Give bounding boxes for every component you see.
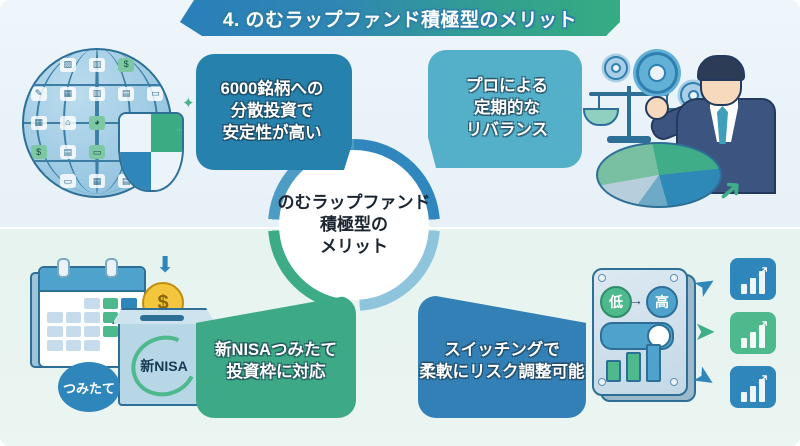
screw-icon	[598, 274, 606, 282]
balance-scale-string-icon	[598, 93, 600, 109]
panel-bar-icon	[626, 352, 641, 382]
bar-chart-icon: ▦	[89, 174, 105, 188]
money-bill-icon: ▭	[89, 145, 105, 159]
certificate-icon: ▤	[60, 145, 76, 159]
bar-chart-icon: ▥	[89, 87, 105, 101]
bar-chart-icon: ▦	[31, 116, 47, 130]
dollar-coin-icon: $	[118, 58, 134, 72]
sparkle-icon: ✦	[174, 126, 183, 137]
folder-icon: ▭	[147, 87, 163, 101]
building-icon: ▥	[31, 174, 47, 188]
pie-chart-icon: ◕	[89, 116, 105, 130]
advisor-hair-icon	[697, 55, 745, 81]
right-arrow-icon: →	[629, 292, 643, 308]
advisor-hand-icon	[645, 96, 669, 120]
screw-icon	[670, 274, 678, 282]
pie-chart-3d-icon	[596, 142, 722, 220]
callout-line: 定期的な	[474, 98, 540, 120]
screw-icon	[670, 378, 678, 386]
calendar-ring-icon	[105, 258, 118, 278]
dollar-coin-icon: $	[31, 145, 47, 159]
screw-icon	[598, 378, 606, 386]
chart-tile-icon: ↗	[730, 258, 776, 300]
center-line-2: 積極型の	[320, 214, 388, 236]
up-arrow-icon: ↗	[756, 372, 769, 387]
tsumitate-badge: つみたて	[58, 362, 120, 412]
callout-line: プロによる	[466, 76, 548, 98]
panel-bar-icon	[646, 344, 661, 382]
panel-bar-icon	[606, 360, 621, 382]
risk-level-high-badge: 高	[646, 286, 678, 318]
callout-line: 柔軟にリスク調整可能	[420, 362, 585, 384]
house-icon: ⌂	[60, 116, 76, 130]
balance-scale-post-icon	[627, 86, 631, 138]
gear-icon	[604, 56, 628, 80]
branch-arrow-icon: ➤	[694, 318, 716, 344]
document-icon: ▤	[147, 58, 163, 72]
calendar-ring-icon	[57, 258, 70, 278]
nisa-cycle-icon: 新NISA	[126, 338, 202, 394]
bank-icon: ▥	[89, 58, 105, 72]
savings-box-slot-icon	[140, 315, 184, 321]
callout-line: 分散投資で	[231, 101, 314, 123]
center-line-1: のむラップファンド	[278, 192, 431, 214]
shield-icon	[118, 112, 184, 192]
chart-up-icon: ▨	[60, 58, 76, 72]
risk-level-low-badge: 低	[600, 286, 632, 318]
page-title: 4. のむラップファンド積極型のメリット	[223, 5, 577, 32]
center-hub-label: のむラップファンド 積極型の メリット	[268, 139, 440, 311]
nisa-box-label: 新NISA	[140, 356, 187, 376]
credit-card-icon: ▭	[60, 174, 76, 188]
bar-chart-icon: ▦	[60, 87, 76, 101]
chart-tile-icon: ↗	[730, 366, 776, 408]
pencil-icon: ✎	[31, 87, 47, 101]
title-banner: 4. のむラップファンド積極型のメリット	[180, 0, 620, 36]
risk-toggle-switch[interactable]	[600, 322, 674, 350]
up-arrow-icon: ↗	[756, 318, 769, 333]
callout-line: 投資枠に対応	[227, 362, 326, 384]
callout-line: スイッチングで	[444, 340, 560, 362]
chart-tile-icon: ↗	[730, 312, 776, 354]
center-line-3: メリット	[320, 236, 388, 258]
sparkle-icon: ✦	[182, 96, 195, 111]
gear-icon	[636, 52, 678, 94]
callout-rebalance: プロによる 定期的な リバランス	[428, 50, 582, 168]
callout-line: リバランス	[466, 120, 548, 142]
down-arrow-icon: ⬇	[156, 254, 174, 276]
callout-line: 新NISAつみたて	[215, 340, 337, 362]
up-arrow-icon: ↗	[756, 264, 769, 279]
certificate-icon: ▤	[118, 87, 134, 101]
callout-line: 6000銘柄への	[221, 79, 324, 101]
infographic-canvas: 4. のむラップファンド積極型のメリット ▨ ▥ $ ▤ ✎ ▦ ▥ ▤ ▭ ▦…	[0, 0, 800, 446]
